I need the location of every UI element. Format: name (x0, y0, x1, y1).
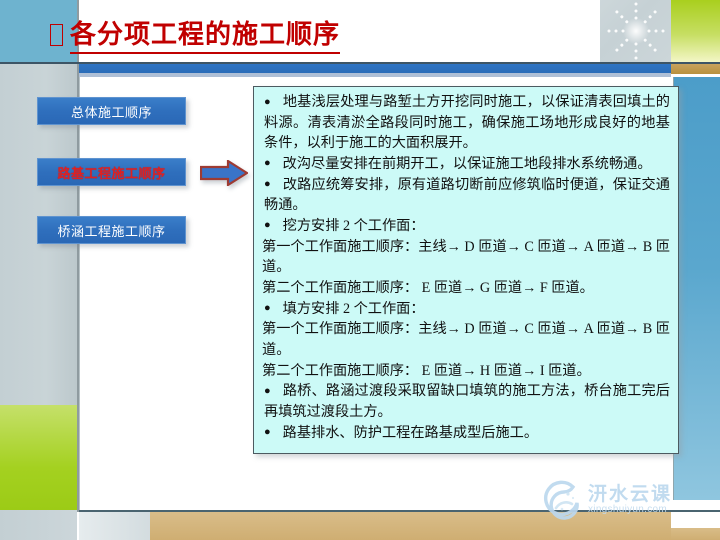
content-text: 改路应统筹安排，原有道路切断前应修筑临时便道，保证交通畅通。 (264, 177, 670, 214)
content-bullet-item: 填方安排 2 个工作面： (262, 299, 670, 320)
content-subline: 第一个工作面施工顺序：主线→ D 匝道→ C 匝道→ A 匝道→ B 匝道。 (262, 237, 670, 278)
sidebar-item-bridge-culvert-sequence[interactable]: 桥涵工程施工顺序 (37, 216, 186, 244)
content-bullet-item: 路基排水、防护工程在路基成型后施工。 (262, 423, 670, 444)
content-paragraph-list: 地基浅层处理与路堑土方开挖同时施工，以保证清表回填土的料源。清表清淤全路段同时施… (262, 92, 670, 443)
sidebar-item-label: 路基工程施工顺序 (57, 163, 165, 182)
right-rail-green-band (671, 0, 720, 62)
starburst-rays (604, 0, 668, 62)
content-bullet-item: 路桥、路涵过渡段采取留缺口填筑的施工方法，桥台施工完后再填筑过渡段土方。 (262, 381, 670, 422)
left-rail-bottom-band (0, 510, 77, 540)
content-text: 改沟尽量安排在前期开工，以保证施工地段排水系统畅通。 (283, 156, 652, 172)
page-title-text: 各分项工程的施工顺序 (70, 14, 340, 54)
content-subline: 第二个工作面施工顺序： E 匝道→ G 匝道→ F 匝道。 (262, 278, 670, 299)
left-rail-green-band (0, 405, 77, 510)
content-text: 第一个工作面施工顺序：主线→ D 匝道→ C 匝道→ A 匝道→ B 匝道。 (262, 321, 670, 358)
content-text: 第二个工作面施工顺序： E 匝道→ H 匝道→ I 匝道。 (262, 363, 591, 379)
footer-right-white (671, 512, 720, 528)
content-text: 第二个工作面施工顺序： E 匝道→ G 匝道→ F 匝道。 (262, 280, 594, 296)
sidebar-item-label: 桥涵工程施工顺序 (57, 221, 165, 240)
starburst-icon (600, 0, 671, 62)
footer-tan-band-right (671, 528, 720, 540)
footer-tan-band (150, 512, 671, 540)
square-bullet-icon (50, 24, 63, 46)
page-title: 各分项工程的施工顺序 (50, 14, 590, 54)
content-text: 挖方安排 2 个工作面： (283, 218, 425, 234)
content-bullet-item: 地基浅层处理与路堑土方开挖同时施工，以保证清表回填土的料源。清表清淤全路段同时施… (262, 92, 670, 154)
header-accent-bar (79, 64, 671, 73)
body-vertical-rule (79, 77, 80, 510)
right-rail-blue-band (673, 77, 720, 500)
content-text: 地基浅层处理与路堑土方开挖同时施工，以保证清表回填土的料源。清表清淤全路段同时施… (264, 94, 670, 151)
header-accent-bar-shadow (79, 73, 671, 77)
content-panel: 地基浅层处理与路堑土方开挖同时施工，以保证清表回填土的料源。清表清淤全路段同时施… (253, 86, 679, 454)
header-accent-tan (671, 64, 720, 74)
content-bullet-item: 挖方安排 2 个工作面： (262, 216, 670, 237)
content-bullet-item: 改路应统筹安排，原有道路切断前应修筑临时便道，保证交通畅通。 (262, 175, 670, 216)
sidebar-item-label: 总体施工顺序 (71, 102, 152, 121)
content-subline: 第二个工作面施工顺序： E 匝道→ H 匝道→ I 匝道。 (262, 361, 670, 382)
right-arrow-icon (200, 160, 248, 186)
slide-canvas: 各分项工程的施工顺序 总体施工顺序 路基工程施工顺序 桥涵工程施工顺序 地基浅层… (0, 0, 720, 540)
footer-gray-block (79, 512, 150, 540)
content-text: 填方安排 2 个工作面： (283, 301, 425, 317)
sidebar-item-overall-sequence[interactable]: 总体施工顺序 (37, 97, 186, 125)
sidebar-item-subgrade-sequence[interactable]: 路基工程施工顺序 (37, 158, 186, 186)
content-text: 第一个工作面施工顺序：主线→ D 匝道→ C 匝道→ A 匝道→ B 匝道。 (262, 239, 670, 276)
content-bullet-item: 改沟尽量安排在前期开工，以保证施工地段排水系统畅通。 (262, 154, 670, 175)
content-text: 路基排水、防护工程在路基成型后施工。 (283, 425, 538, 441)
content-text: 路桥、路涵过渡段采取留缺口填筑的施工方法，桥台施工完后再填筑过渡段土方。 (264, 383, 670, 420)
content-subline: 第一个工作面施工顺序：主线→ D 匝道→ C 匝道→ A 匝道→ B 匝道。 (262, 319, 670, 360)
